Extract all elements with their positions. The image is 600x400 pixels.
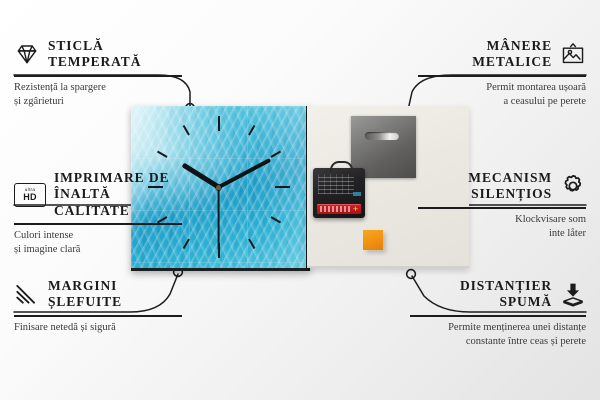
callout-high-quality-print: ultra HD IMPRIMARE DE ÎNALTĂ CALITATE Cu… — [14, 170, 182, 257]
callout-rule — [14, 223, 182, 225]
callout-title: MARGINI ȘLEFUITE — [48, 278, 122, 311]
ultra-hd-icon: ultra HD — [14, 183, 46, 207]
callout-subtitle: Finisare netedă și sigură — [14, 321, 182, 335]
callout-rule — [410, 315, 586, 317]
callout-rule — [14, 315, 182, 317]
callout-silent-mechanism: MECANISM SILENȚIOS Klockvisare som inte … — [418, 170, 586, 241]
callout-title: DISTANȚIER SPUMĂ — [460, 278, 552, 311]
polished-edges-icon — [14, 281, 40, 307]
callout-header: MÂNERE METALICE — [418, 38, 586, 71]
battery: + — [317, 204, 361, 214]
callout-header: ultra HD IMPRIMARE DE ÎNALTĂ CALITATE — [14, 170, 182, 219]
callout-metal-handles: MÂNERE METALICE Permit montarea ușoară a… — [418, 38, 586, 109]
hanging-loop — [330, 161, 353, 172]
callout-header: DISTANȚIER SPUMĂ — [410, 278, 586, 311]
infographic-stage: + STICLĂ TEMPERATĂ Rezistență la sparger… — [0, 0, 600, 400]
foam-spacer-icon — [560, 281, 586, 307]
callout-header: STICLĂ TEMPERATĂ — [14, 38, 182, 71]
diamond-icon — [14, 41, 40, 67]
ultra-hd-icon-main: HD — [23, 193, 37, 202]
callout-header: MARGINI ȘLEFUITE — [14, 278, 182, 311]
battery-label — [320, 206, 351, 212]
movement-marking — [353, 192, 361, 196]
foam-spacer — [363, 230, 383, 250]
callout-rule — [418, 75, 586, 77]
battery-plus-terminal: + — [352, 205, 359, 213]
callout-subtitle: Rezistență la spargere și zgârieturi — [14, 81, 182, 109]
clock-second-hand — [218, 187, 220, 249]
quartz-movement-box: + — [313, 168, 365, 218]
movement-label — [318, 174, 354, 194]
hour-marker — [218, 116, 220, 187]
callout-subtitle: Culori intense și imagine clară — [14, 229, 182, 257]
callout-polished-edges: MARGINI ȘLEFUITE Finisare netedă și sigu… — [14, 278, 182, 335]
hanger-slot — [365, 132, 399, 140]
callout-subtitle: Permite menținerea unei distanțe constan… — [410, 321, 586, 349]
callout-tempered-glass: STICLĂ TEMPERATĂ Rezistență la spargere … — [14, 38, 182, 109]
callout-title: MÂNERE METALICE — [472, 38, 552, 71]
callout-rule — [14, 75, 182, 77]
callout-title: IMPRIMARE DE ÎNALTĂ CALITATE — [54, 170, 182, 219]
callout-title: STICLĂ TEMPERATĂ — [48, 38, 141, 71]
clock-center-pin — [216, 185, 221, 190]
callout-header: MECANISM SILENȚIOS — [418, 170, 586, 203]
callout-subtitle: Permit montarea ușoară a ceasului pe per… — [418, 81, 586, 109]
callout-subtitle: Klockvisare som inte låter — [418, 213, 586, 241]
gear-icon — [560, 173, 586, 199]
callout-foam-spacer: DISTANȚIER SPUMĂ Permite menținerea unei… — [410, 278, 586, 349]
callout-rule — [418, 207, 586, 209]
hour-marker — [219, 186, 290, 188]
callout-title: MECANISM SILENȚIOS — [468, 170, 552, 203]
picture-hanger-icon — [560, 41, 586, 67]
